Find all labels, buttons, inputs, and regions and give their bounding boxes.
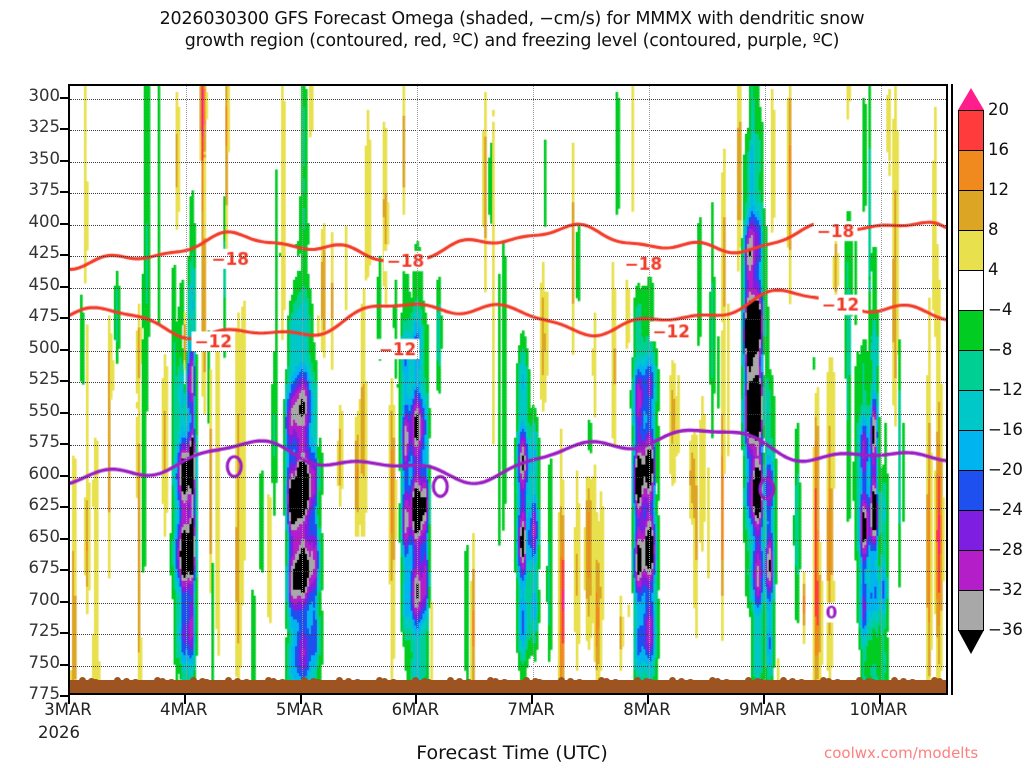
terrain-bump [647,679,654,684]
terrain-bump [403,681,410,684]
terrain-surface [70,680,946,693]
terrain-bump [612,679,619,684]
colorbar-label--16: −16 [988,420,1023,439]
colorbar-cell-11 [958,510,984,551]
terrain-bump [514,681,521,684]
page-title: 2026030300 GFS Forecast Omega (shaded, −… [0,8,1024,52]
colorbar-legend: 20161284−4−8−12−16−20−24−28−32−36 [958,110,984,670]
terrain-bump [159,678,166,684]
y-tick-label-525: 525 [4,369,60,388]
terrain-bump [834,679,841,684]
terrain-bump [314,679,321,684]
title-line-1: 2026030300 GFS Forecast Omega (shaded, −… [160,9,865,29]
terrain-bump [603,678,610,684]
terrain-bump [656,680,663,684]
gridline-h-650 [70,540,946,541]
terrain-bump [869,679,876,684]
terrain-bump [390,679,397,684]
terrain-bump [891,677,898,684]
title-line-2: growth region (contoured, red, ºC) and f… [0,30,1024,52]
terrain-bump [225,677,232,684]
gridline-h-575 [70,445,946,446]
terrain-bump [447,677,454,684]
gridline-h-475 [70,319,946,320]
y-tick-label-350: 350 [4,149,60,168]
terrain-bump [345,678,352,684]
terrain-bump [923,681,930,684]
terrain-bump [536,679,543,684]
terrain-bump [137,680,144,684]
colorbar-cell-9 [958,430,984,471]
y-tick-375 [60,191,68,193]
terrain-bump [181,681,188,684]
y-tick-675 [60,569,68,571]
terrain-bump [714,678,721,684]
y-tick-400 [60,223,68,225]
y-tick-label-475: 475 [4,306,60,325]
terrain-bump [803,680,810,684]
plot-area [68,84,948,695]
y-tick-label-650: 650 [4,527,60,546]
y-tick-300 [60,97,68,99]
colorbar-cell-2 [958,150,984,191]
colorbar-label--20: −20 [988,460,1023,479]
terrain-bump [523,677,530,684]
terrain-bump [767,680,774,684]
terrain-bump [257,681,264,684]
colorbar-label--32: −32 [988,580,1023,599]
y-tick-525 [60,380,68,382]
terrain-bump [248,680,255,684]
terrain-bump [270,678,277,684]
x-tick-8MAR [647,695,649,704]
y-tick-350 [60,160,68,162]
colorbar-label--24: −24 [988,500,1023,519]
terrain-bump [634,677,641,684]
terrain-bump [758,679,765,684]
terrain-bump [558,677,565,684]
terrain-bump [359,680,366,684]
colorbar-label--36: −36 [988,620,1023,639]
colorbar-cell-1 [958,110,984,151]
colorbar-label-4: 4 [988,260,999,279]
colorbar-cell-13 [958,590,984,631]
y-tick-label-700: 700 [4,590,60,609]
colorbar-label-20: 20 [988,100,1009,119]
terrain-bump [470,680,477,684]
terrain-bump [323,680,330,684]
x-tick-4MAR [184,695,186,704]
y-tick-500 [60,349,68,351]
x-tick-3MAR [68,695,70,704]
x-axis-year: 2026 [38,723,80,742]
terrain-bump [936,678,943,684]
terrain-bump [789,678,796,684]
y-tick-label-725: 725 [4,621,60,640]
terrain-bump [723,679,730,684]
y-tick-label-375: 375 [4,180,60,199]
gridline-h-325 [70,130,946,131]
terrain-bump [336,677,343,684]
terrain-bump [123,678,130,684]
y-tick-750 [60,664,68,666]
y-tick-label-600: 600 [4,464,60,483]
terrain-bump [190,677,197,684]
colorbar-cell-5 [958,270,984,311]
gridline-h-750 [70,666,946,667]
gridline-h-500 [70,351,946,352]
y-tick-label-550: 550 [4,401,60,420]
y-tick-label-325: 325 [4,117,60,136]
colorbar-label--12: −12 [988,380,1023,399]
y-tick-label-425: 425 [4,243,60,262]
terrain-bump [456,678,463,684]
colorbar-cell-10 [958,470,984,511]
x-tick-5MAR [300,695,302,704]
watermark: coolwx.com/modelts [824,744,978,762]
colorbar-label--4: −4 [988,300,1012,319]
terrain-bump [812,681,819,684]
gridline-h-425 [70,256,946,257]
colorbar-over-arrow [958,88,984,110]
gridline-h-350 [70,162,946,163]
terrain-bump [847,681,854,684]
y-tick-550 [60,412,68,414]
terrain-bump [234,678,241,684]
terrain-bump [780,677,787,684]
gridline-h-300 [70,99,946,100]
terrain-bump [381,678,388,684]
terrain-bump [70,681,77,684]
y-tick-450 [60,286,68,288]
terrain-bump [900,678,907,684]
terrain-bump [567,678,574,684]
gridline-v-day-6 [765,86,766,693]
terrain-bump [678,678,685,684]
x-tick-9MAR [763,695,765,704]
terrain-bump [412,677,419,684]
gridline-h-625 [70,508,946,509]
terrain-bump [301,677,308,684]
terrain-bump [745,677,752,684]
colorbar-label--28: −28 [988,540,1023,559]
gridline-h-725 [70,634,946,635]
y-tick-600 [60,475,68,477]
terrain-bump [625,681,632,684]
terrain-bump [203,679,210,684]
y-tick-325 [60,128,68,130]
terrain-bump [434,680,441,684]
terrain-bump [292,681,299,684]
gridline-v-day-5 [649,86,650,693]
terrain-bump [368,681,375,684]
colorbar-cell-7 [958,350,984,391]
gridline-h-700 [70,603,946,604]
gridline-h-400 [70,225,946,226]
y-tick-label-750: 750 [4,653,60,672]
y-tick-label-675: 675 [4,558,60,577]
gridline-h-550 [70,414,946,415]
terrain-bump [114,677,121,684]
x-tick-10MAR [879,695,881,704]
y-tick-625 [60,506,68,508]
colorbar-label-12: 12 [988,180,1009,199]
y-tick-label-300: 300 [4,86,60,105]
terrain-bump [79,677,86,684]
colorbar-axis-line [951,84,953,695]
colorbar-label--8: −8 [988,340,1012,359]
y-tick-label-450: 450 [4,275,60,294]
y-tick-425 [60,254,68,256]
y-tick-775 [60,695,68,697]
colorbar-under-arrow [958,630,984,654]
colorbar-cell-3 [958,190,984,231]
terrain-bump [479,681,486,684]
gridline-v-day-7 [881,86,882,693]
y-tick-700 [60,601,68,603]
y-tick-575 [60,443,68,445]
colorbar-label-8: 8 [988,220,999,239]
gridline-h-525 [70,382,946,383]
gridline-h-375 [70,193,946,194]
x-tick-6MAR [415,695,417,704]
terrain-bump [501,679,508,684]
colorbar-cell-12 [958,550,984,591]
terrain-bump [914,680,921,684]
terrain-bump [212,680,219,684]
terrain-bump [146,681,153,684]
terrain-bump [878,680,885,684]
terrain-bump [581,680,588,684]
terrain-bump [945,679,948,684]
terrain-bump [279,679,286,684]
gridline-v-day-2 [302,86,303,693]
terrain-bump [92,679,99,684]
terrain-bump [856,677,863,684]
terrain-bump [701,681,708,684]
gridline-h-450 [70,288,946,289]
terrain-bump [492,678,499,684]
x-tick-7MAR [531,695,533,704]
terrain-bump [736,681,743,684]
terrain-bump [168,679,175,684]
terrain-bump [669,677,676,684]
gridline-v-day-4 [533,86,534,693]
gridline-h-675 [70,571,946,572]
y-tick-label-500: 500 [4,338,60,357]
y-tick-650 [60,538,68,540]
y-tick-725 [60,632,68,634]
terrain-bump [825,678,832,684]
y-tick-label-625: 625 [4,495,60,514]
gridline-v-day-1 [186,86,187,693]
terrain-bump [590,681,597,684]
gridline-h-600 [70,477,946,478]
terrain-bump [101,680,108,684]
terrain-bump [545,680,552,684]
colorbar-cell-6 [958,310,984,351]
colorbar-cell-4 [958,230,984,271]
terrain-bump [692,680,699,684]
y-tick-label-575: 575 [4,432,60,451]
y-tick-label-400: 400 [4,212,60,231]
colorbar-label-16: 16 [988,140,1009,159]
colorbar-cell-8 [958,390,984,431]
y-tick-475 [60,317,68,319]
forecast-chart-page: 2026030300 GFS Forecast Omega (shaded, −… [0,0,1024,768]
gridline-v-day-3 [417,86,418,693]
terrain-bump [425,679,432,684]
